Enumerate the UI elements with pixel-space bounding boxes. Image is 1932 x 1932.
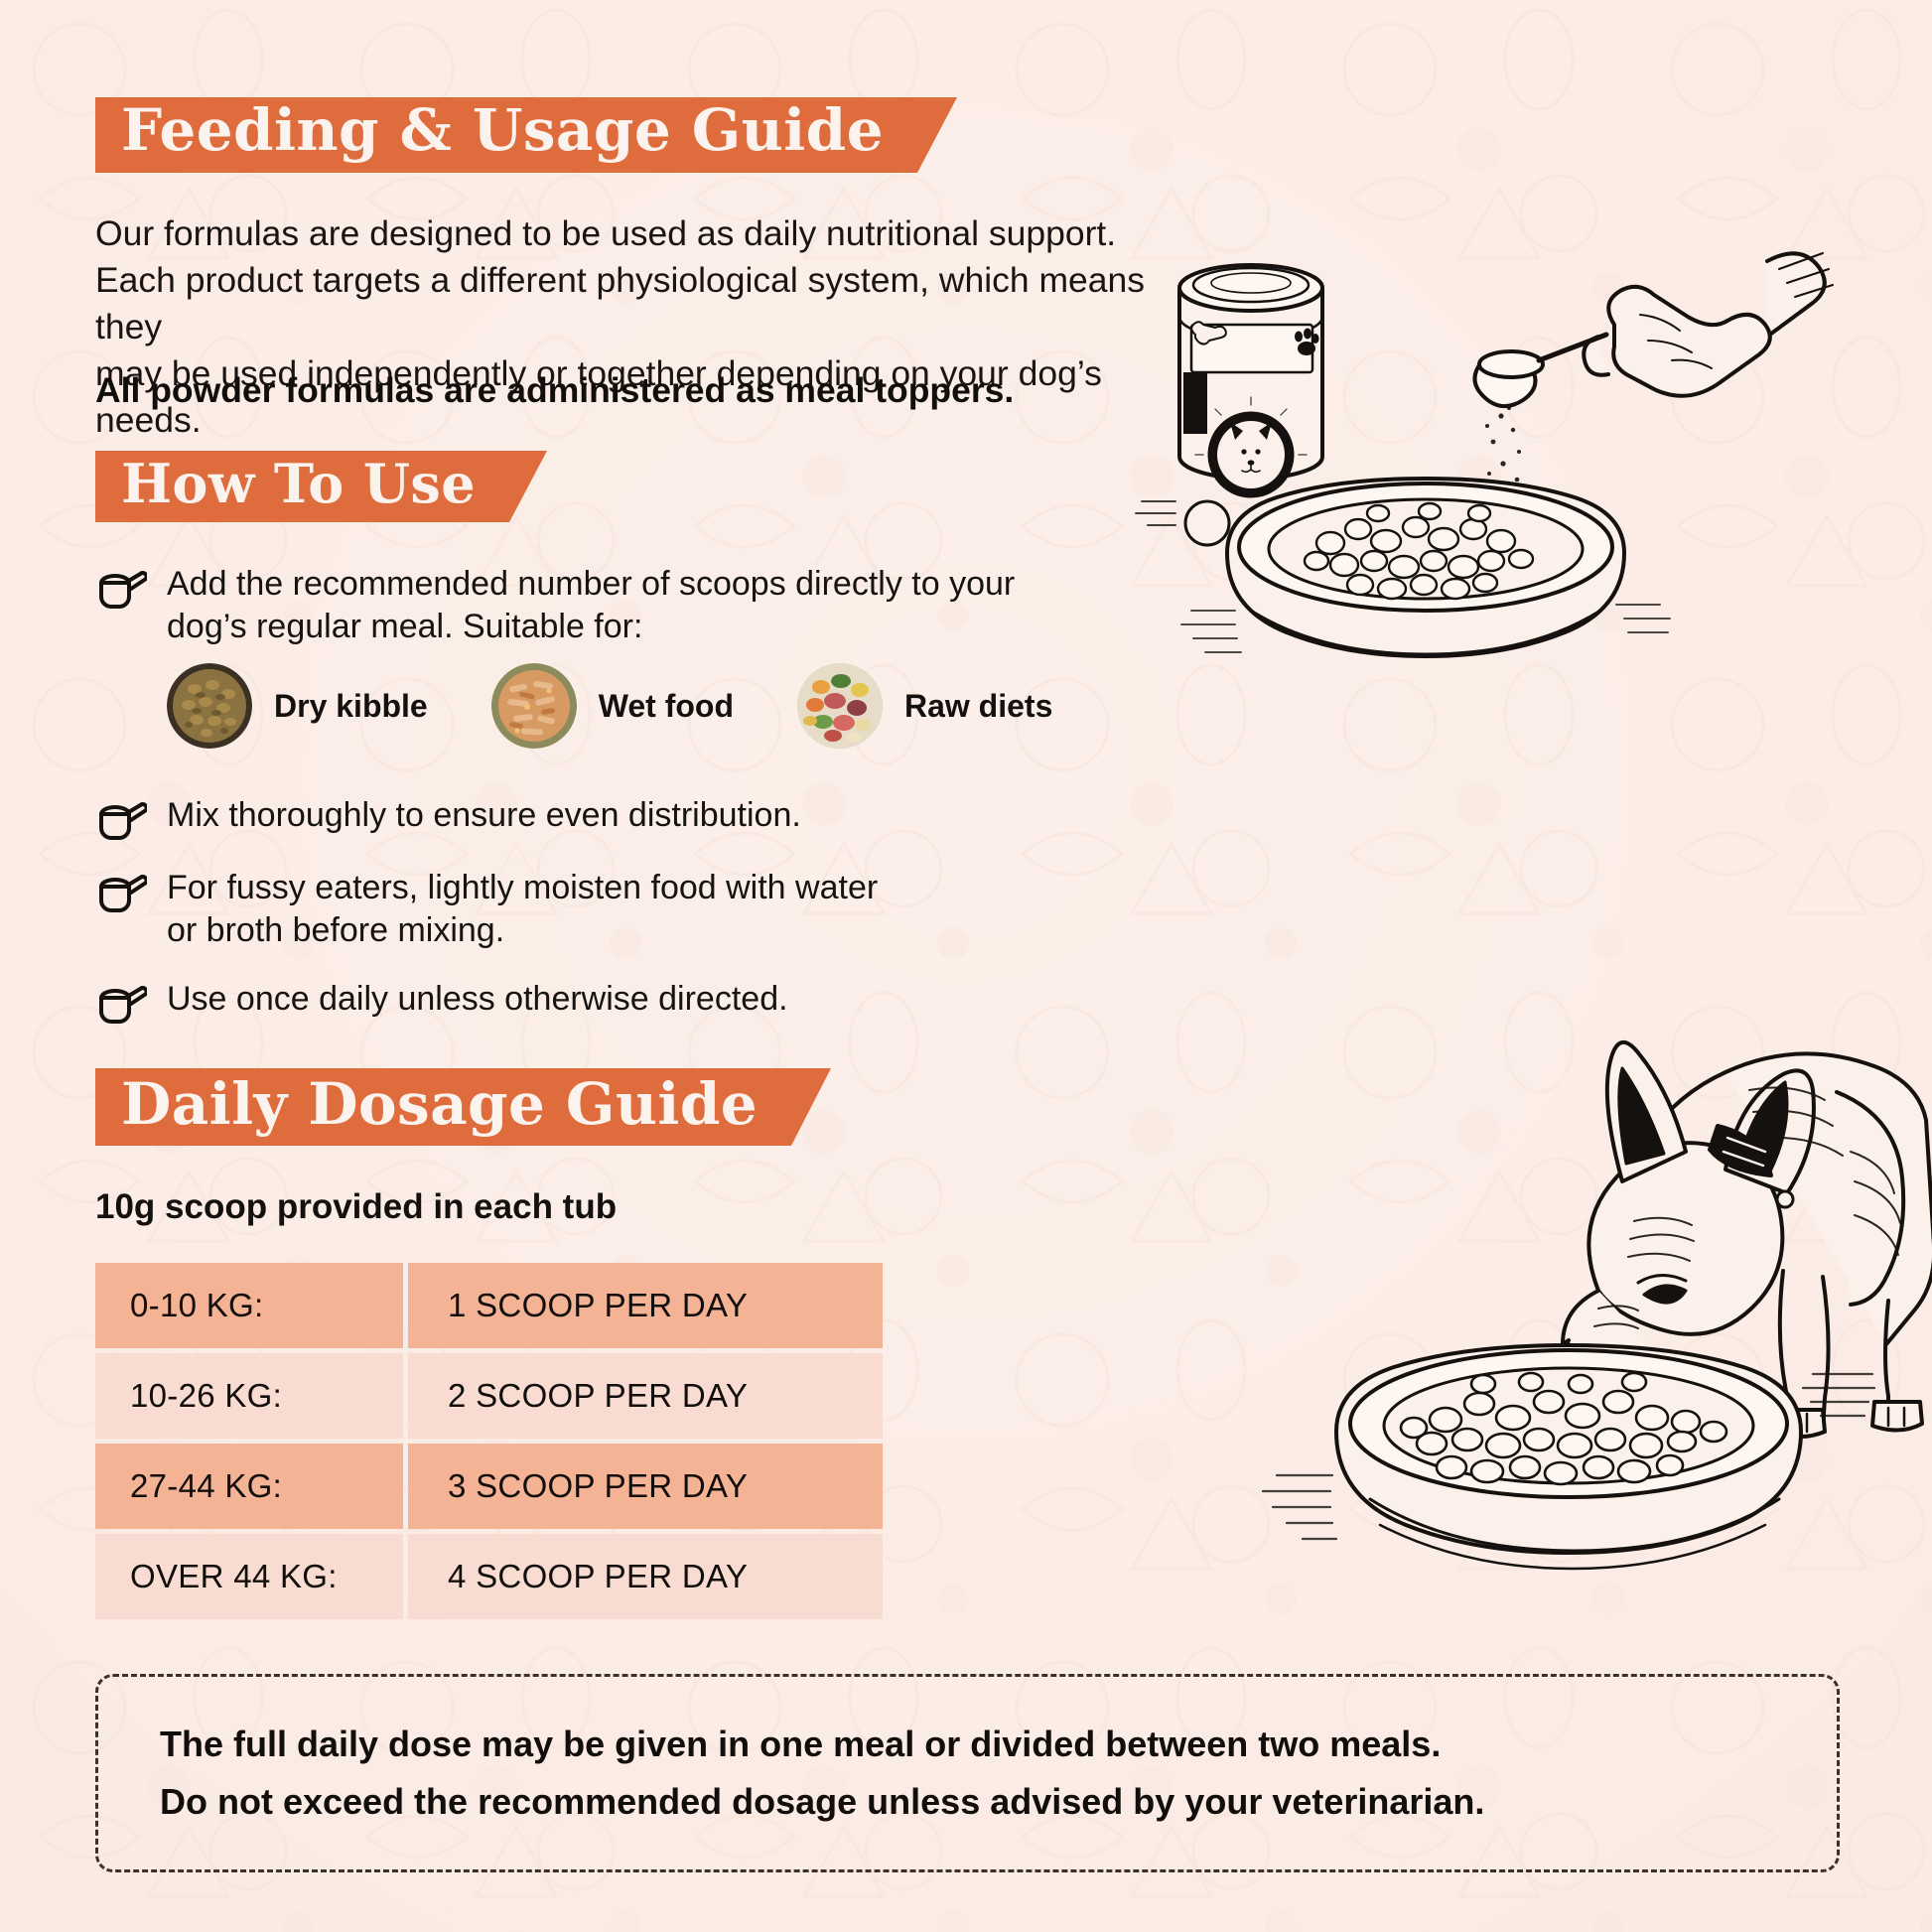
banner-how-to-use: How To Use — [95, 451, 509, 522]
banner-dosage-label: Daily Dosage Guide — [121, 1070, 758, 1138]
scoop-icon — [97, 800, 147, 847]
scoop-size-note: 10g scoop provided in each tub — [95, 1187, 617, 1227]
how-to-bullet-4: Use once daily unless otherwise directed… — [97, 978, 1090, 1031]
table-row: OVER 44 KG: 4 SCOOP PER DAY — [95, 1534, 883, 1619]
dosage-weight-cell: 27-44 KG: — [95, 1444, 403, 1529]
footer-line-2: Do not exceed the recommended dosage unl… — [160, 1779, 1775, 1825]
intro-line-2: Each product targets a different physiol… — [95, 257, 1158, 350]
intro-emphasis: All powder formulas are administered as … — [95, 367, 1168, 413]
illustration-dog-eating — [1082, 973, 1932, 1588]
bullet3-line1: For fussy eaters, lightly moisten food w… — [167, 869, 878, 906]
dosage-weight-cell: 0-10 KG: — [95, 1263, 403, 1348]
hand-holding-scoop — [1474, 253, 1833, 493]
how-to-bullet-4-text: Use once daily unless otherwise directed… — [167, 978, 788, 1021]
bullet1-line2: dog’s regular meal. Suitable for: — [167, 608, 642, 645]
how-to-bullet-3-text: For fussy eaters, lightly moisten food w… — [167, 867, 878, 952]
banner-feeding-label: Feeding & Usage Guide — [121, 96, 884, 164]
banner-howto-label: How To Use — [121, 452, 476, 515]
scoop-icon — [97, 569, 147, 616]
food-type-wet-food-label: Wet food — [599, 688, 734, 725]
footer-advisory-box: The full daily dose may be given in one … — [95, 1674, 1840, 1872]
food-bowl-with-kibble — [1263, 1345, 1801, 1569]
dry-kibble-bowl-icon — [167, 663, 252, 749]
illustration-tub-hand-bowl — [1132, 213, 1916, 680]
food-type-raw-diets: Raw diets — [797, 663, 1052, 749]
food-type-wet-food: Wet food — [491, 663, 734, 749]
table-row: 27-44 KG: 3 SCOOP PER DAY — [95, 1444, 883, 1529]
footer-line-1: The full daily dose may be given in one … — [160, 1722, 1775, 1767]
dosage-amount-cell: 3 SCOOP PER DAY — [408, 1444, 883, 1529]
table-row: 0-10 KG: 1 SCOOP PER DAY — [95, 1263, 883, 1348]
banner-feeding-usage-guide: Feeding & Usage Guide — [95, 97, 917, 173]
food-type-dry-kibble: Dry kibble — [167, 663, 428, 749]
how-to-bullet-1-text: Add the recommended number of scoops dir… — [167, 563, 1015, 648]
how-to-bullet-2-text: Mix thoroughly to ensure even distributi… — [167, 794, 801, 837]
bullet3-line2: or broth before mixing. — [167, 911, 504, 949]
how-to-bullet-2: Mix thoroughly to ensure even distributi… — [97, 794, 1090, 847]
how-to-bullet-3: For fussy eaters, lightly moisten food w… — [97, 867, 1090, 952]
food-type-raw-diets-label: Raw diets — [904, 688, 1052, 725]
food-type-dry-kibble-label: Dry kibble — [274, 688, 428, 725]
intro-line-1: Our formulas are designed to be used as … — [95, 210, 1158, 257]
bullet1-line1: Add the recommended number of scoops dir… — [167, 565, 1015, 603]
dosage-table: 0-10 KG: 1 SCOOP PER DAY 10-26 KG: 2 SCO… — [95, 1263, 883, 1619]
dosage-amount-cell: 4 SCOOP PER DAY — [408, 1534, 883, 1619]
scoop-icon — [97, 984, 147, 1031]
dosage-amount-cell: 2 SCOOP PER DAY — [408, 1353, 883, 1439]
banner-daily-dosage-guide: Daily Dosage Guide — [95, 1068, 791, 1146]
wet-food-can-icon — [491, 663, 577, 749]
table-row: 10-26 KG: 2 SCOOP PER DAY — [95, 1353, 883, 1439]
dosage-weight-cell: 10-26 KG: — [95, 1353, 403, 1439]
how-to-bullet-1: Add the recommended number of scoops dir… — [97, 563, 1090, 648]
dosage-weight-cell: OVER 44 KG: — [95, 1534, 403, 1619]
raw-diet-bowl-icon — [797, 663, 883, 749]
dosage-amount-cell: 1 SCOOP PER DAY — [408, 1263, 883, 1348]
food-bowl-with-kibble — [1181, 479, 1670, 656]
scoop-icon — [97, 873, 147, 919]
food-type-row: Dry kibble — [167, 663, 1052, 749]
